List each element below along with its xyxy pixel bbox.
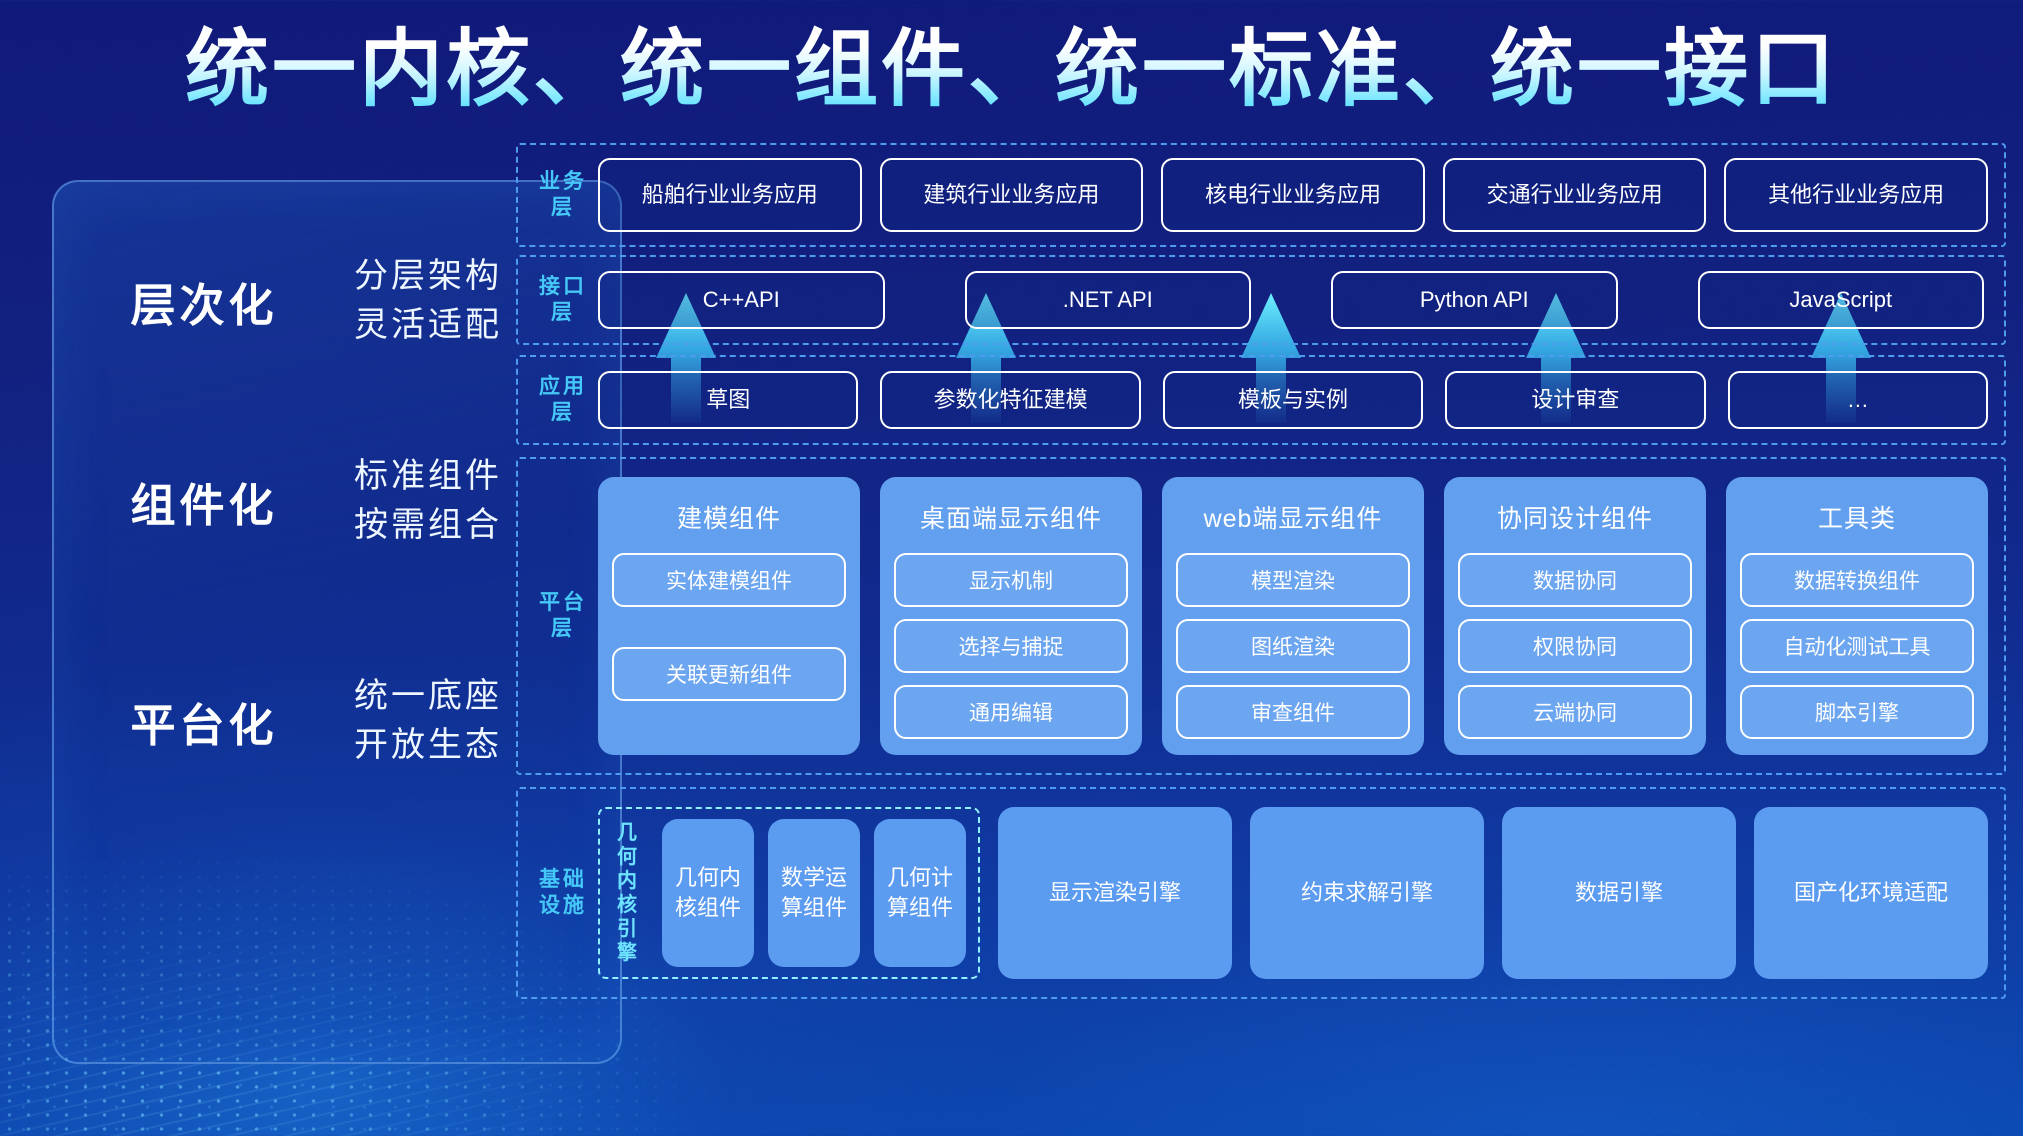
- platform-column-title: 工具类: [1740, 499, 1974, 535]
- feature-value-2-line-1: 开放生态: [354, 721, 502, 770]
- platform-column: 协同设计组件 数据协同 权限协同 云端协同: [1444, 477, 1706, 755]
- feature-key-2: 平台化: [54, 689, 354, 754]
- platform-column: 建模组件 实体建模组件 关联更新组件: [598, 477, 860, 755]
- platform-column: web端显示组件 模型渲染 图纸渲染 审查组件: [1162, 477, 1424, 755]
- layer-application-label: 应用层: [534, 374, 592, 427]
- layer-platform-columns: 建模组件 实体建模组件 关联更新组件 桌面端显示组件 显示机制 选择与捕捉 通用…: [592, 459, 2004, 773]
- layer-business-items: 船舶行业业务应用 建筑行业业务应用 核电行业业务应用 交通行业业务应用 其他行业…: [592, 144, 2004, 246]
- layer-business: 业务层 船舶行业业务应用 建筑行业业务应用 核电行业业务应用 交通行业业务应用 …: [516, 143, 2006, 247]
- business-node[interactable]: 交通行业业务应用: [1443, 158, 1707, 232]
- infrastructure-tile[interactable]: 约束求解引擎: [1250, 807, 1484, 979]
- business-node[interactable]: 船舶行业业务应用: [598, 158, 862, 232]
- layer-business-label: 业务层: [534, 169, 592, 222]
- platform-chip[interactable]: 关联更新组件: [612, 647, 846, 701]
- layer-platform-label: 平台层: [534, 459, 592, 773]
- layer-application-items: 草图 参数化特征建模 模板与实例 设计审查 …: [592, 357, 2004, 443]
- business-node[interactable]: 其他行业业务应用: [1724, 158, 1988, 232]
- infrastructure-tile[interactable]: 几何计算组件: [874, 819, 966, 967]
- application-node[interactable]: 参数化特征建模: [880, 371, 1140, 429]
- interface-node[interactable]: Python API: [1331, 271, 1618, 329]
- feature-value-0-line-1: 灵活适配: [354, 301, 502, 350]
- infrastructure-tile[interactable]: 国产化环境适配: [1754, 807, 1988, 979]
- platform-chip[interactable]: 选择与捕捉: [894, 619, 1128, 673]
- infrastructure-tile[interactable]: 数据引擎: [1502, 807, 1736, 979]
- application-node[interactable]: …: [1728, 371, 1988, 429]
- layer-platform: 平台层 建模组件 实体建模组件 关联更新组件 桌面端显示组件 显示机制 选择与捕…: [516, 457, 2006, 775]
- platform-column-title: web端显示组件: [1176, 499, 1410, 535]
- page-title: 统一内核、统一组件、统一标准、统一接口: [0, 24, 2023, 115]
- platform-chip[interactable]: 云端协同: [1458, 685, 1692, 739]
- platform-chip[interactable]: 模型渲染: [1176, 553, 1410, 607]
- application-node[interactable]: 设计审查: [1445, 371, 1705, 429]
- feature-value-1: 标准组件 按需组合: [354, 452, 502, 551]
- interface-node[interactable]: JavaScript: [1698, 271, 1985, 329]
- interface-node[interactable]: .NET API: [965, 271, 1252, 329]
- platform-chip[interactable]: 实体建模组件: [612, 553, 846, 607]
- layer-interface-items: C++API .NET API Python API JavaScript: [592, 257, 2004, 343]
- platform-chip[interactable]: 数据转换组件: [1740, 553, 1974, 607]
- geometry-kernel-engine-label: 几何内核引擎: [608, 819, 648, 967]
- platform-column-title: 协同设计组件: [1458, 499, 1692, 535]
- feature-value-0: 分层架构 灵活适配: [354, 252, 502, 351]
- platform-chip[interactable]: 图纸渲染: [1176, 619, 1410, 673]
- layer-interface: 接口层 C++API .NET API Python API JavaScrip…: [516, 255, 2006, 345]
- layer-infrastructure: 基础设施 几何内核引擎 几何内核组件 数学运算组件 几何计算组件 显示渲染引擎 …: [516, 787, 2006, 999]
- platform-chip[interactable]: 自动化测试工具: [1740, 619, 1974, 673]
- feature-value-2: 统一底座 开放生态: [354, 672, 502, 771]
- application-node[interactable]: 草图: [598, 371, 858, 429]
- interface-node[interactable]: C++API: [598, 271, 885, 329]
- platform-chip[interactable]: 数据协同: [1458, 553, 1692, 607]
- infrastructure-tile[interactable]: 数学运算组件: [768, 819, 860, 967]
- platform-chip[interactable]: 脚本引擎: [1740, 685, 1974, 739]
- platform-chip[interactable]: 显示机制: [894, 553, 1128, 607]
- platform-column: 桌面端显示组件 显示机制 选择与捕捉 通用编辑: [880, 477, 1142, 755]
- feature-value-1-line-1: 按需组合: [354, 501, 502, 550]
- layer-application: 应用层 草图 参数化特征建模 模板与实例 设计审查 …: [516, 355, 2006, 445]
- geometry-kernel-engine-group: 几何内核引擎 几何内核组件 数学运算组件 几何计算组件: [598, 807, 980, 979]
- layer-infrastructure-items: 几何内核引擎 几何内核组件 数学运算组件 几何计算组件 显示渲染引擎 约束求解引…: [592, 789, 2004, 997]
- layer-infrastructure-label: 基础设施: [534, 789, 592, 997]
- application-node[interactable]: 模板与实例: [1163, 371, 1423, 429]
- business-node[interactable]: 核电行业业务应用: [1161, 158, 1425, 232]
- platform-column-title: 建模组件: [612, 499, 846, 535]
- feature-value-0-line-0: 分层架构: [354, 252, 502, 301]
- layer-interface-label: 接口层: [534, 274, 592, 327]
- infrastructure-tile[interactable]: 几何内核组件: [662, 819, 754, 967]
- feature-value-1-line-0: 标准组件: [354, 452, 502, 501]
- business-node[interactable]: 建筑行业业务应用: [880, 158, 1144, 232]
- feature-key-0: 层次化: [54, 269, 354, 334]
- feature-value-2-line-0: 统一底座: [354, 672, 502, 721]
- platform-chip[interactable]: 权限协同: [1458, 619, 1692, 673]
- platform-chip[interactable]: 审查组件: [1176, 685, 1410, 739]
- infrastructure-tile[interactable]: 显示渲染引擎: [998, 807, 1232, 979]
- architecture-diagram: 业务层 船舶行业业务应用 建筑行业业务应用 核电行业业务应用 交通行业业务应用 …: [516, 143, 2006, 1007]
- platform-column: 工具类 数据转换组件 自动化测试工具 脚本引擎: [1726, 477, 1988, 755]
- platform-chip[interactable]: 通用编辑: [894, 685, 1128, 739]
- feature-key-1: 组件化: [54, 469, 354, 534]
- platform-column-title: 桌面端显示组件: [894, 499, 1128, 535]
